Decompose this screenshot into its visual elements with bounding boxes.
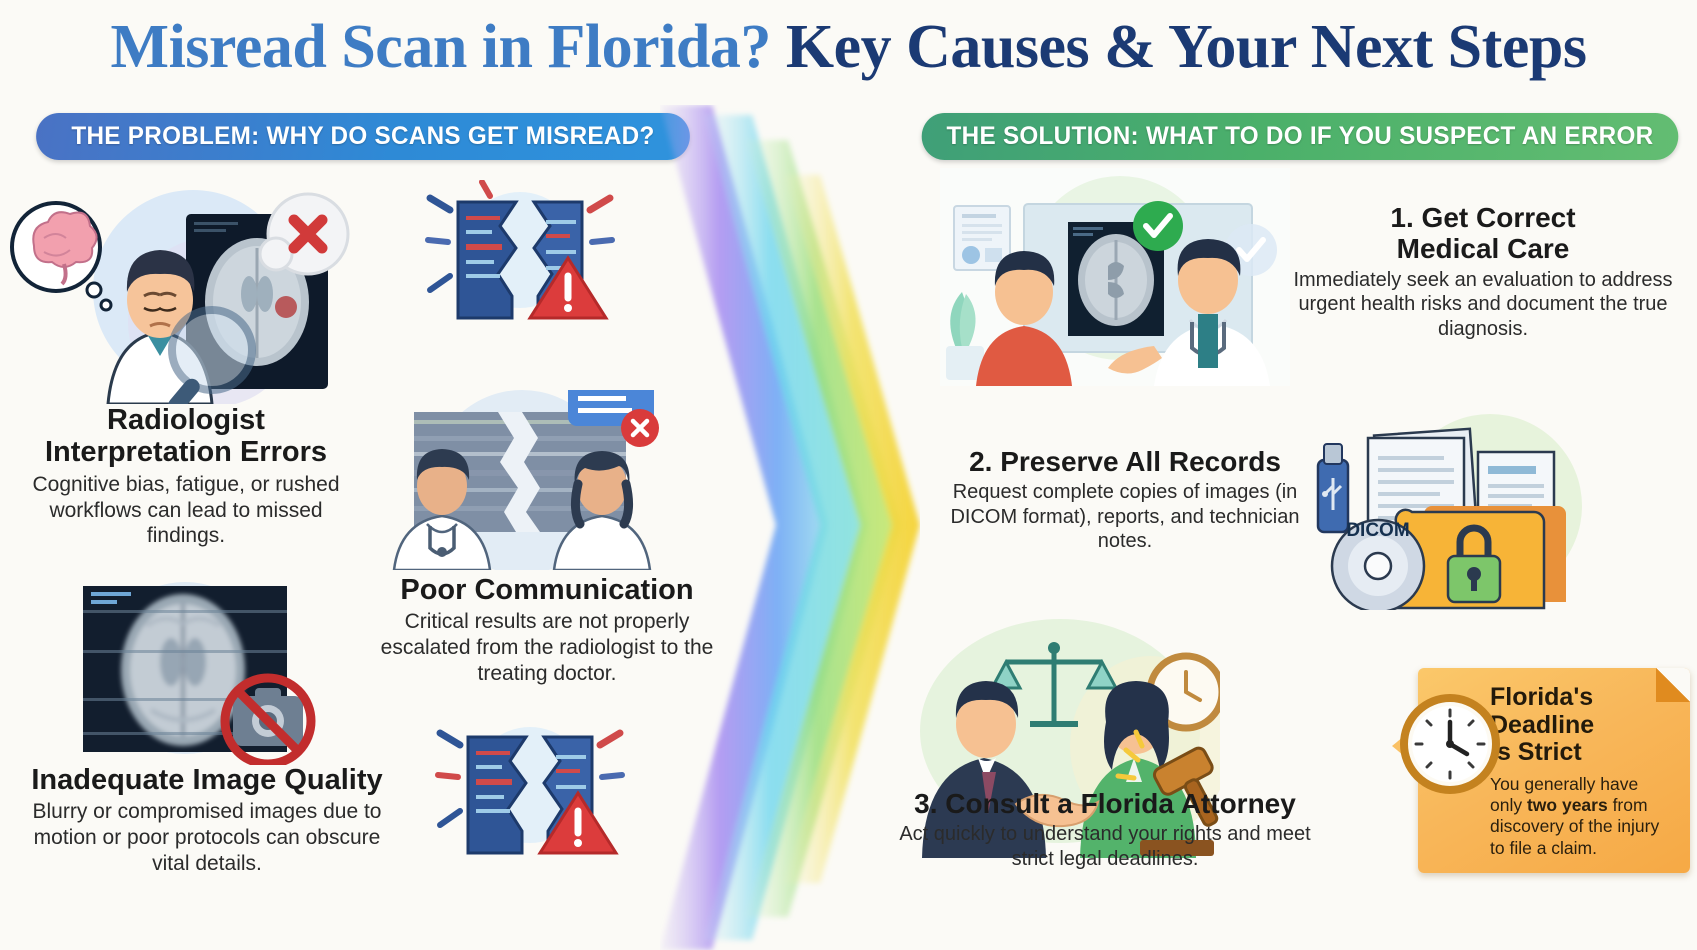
page-title-part1: Misread Scan in Florida?	[111, 13, 771, 81]
banner-problem: THE PROBLEM: WHY DO SCANS GET MISREAD?	[36, 113, 690, 160]
blurry-scan-illustration	[55, 580, 325, 765]
clock-icon	[1398, 692, 1502, 796]
doctors-communication-breakdown-illustration	[372, 390, 672, 570]
banner-solution-label: THE SOLUTION: WHAT TO DO IF YOU SUSPECT …	[947, 122, 1654, 151]
card-step2-body: Request complete copies of images (in DI…	[940, 480, 1310, 553]
deadline-title-line3: is Strict	[1490, 739, 1674, 767]
card-step2-heading: 2. Preserve All Records	[940, 446, 1310, 477]
card-imagequality-heading: Inadequate Image Quality	[22, 764, 392, 796]
deadline-body-bold: two years	[1527, 795, 1608, 815]
card-imagequality-body: Blurry or compromised images due to moti…	[22, 799, 392, 876]
doctor-patient-consultation-illustration	[940, 168, 1290, 386]
tired-radiologist-illustration	[8, 172, 358, 404]
card-step1-heading-line2: Medical Care	[1288, 233, 1678, 264]
card-step-get-correct-medical-care: 1. Get Correct Medical Care Immediately …	[1288, 202, 1678, 341]
card-step-consult-florida-attorney: 3. Consult a Florida Attorney Act quickl…	[890, 788, 1320, 871]
card-step-preserve-all-records: 2. Preserve All Records Request complete…	[940, 446, 1310, 554]
card-step3-body: Act quickly to understand your rights an…	[890, 822, 1320, 871]
broken-report-warning-icon	[420, 180, 620, 320]
dicom-disc-label: DICOM	[1346, 520, 1409, 541]
deadline-body: You generally have only two years from d…	[1490, 774, 1674, 859]
banner-problem-label: THE PROBLEM: WHY DO SCANS GET MISREAD?	[71, 122, 654, 151]
page-title-part2: Key Causes & Your Next Steps	[786, 13, 1587, 81]
records-folder-illustration: DICOM	[1300, 408, 1630, 610]
banner-solution: THE SOLUTION: WHAT TO DO IF YOU SUSPECT …	[922, 113, 1679, 160]
card-inadequate-image-quality: Inadequate Image Quality Blurry or compr…	[22, 764, 392, 876]
card-step1-body: Immediately seek an evaluation to addres…	[1288, 268, 1678, 341]
card-communication-heading: Poor Communication	[372, 574, 722, 606]
card-step1-heading-line1: 1. Get Correct	[1288, 202, 1678, 233]
card-radiologist-body: Cognitive bias, fatigue, or rushed workf…	[25, 472, 347, 549]
chevron-right-stack-icon	[660, 105, 920, 950]
deadline-title-line1: Florida's	[1490, 684, 1674, 712]
deadline-title: Florida's Deadline is Strict	[1490, 684, 1674, 767]
broken-report-warning-icon-2	[430, 715, 630, 855]
card-step3-heading: 3. Consult a Florida Attorney	[890, 788, 1320, 819]
folded-corner	[1656, 668, 1690, 702]
card-radiologist-heading: Radiologist Interpretation Errors	[25, 404, 347, 469]
card-communication-body: Critical results are not properly escala…	[372, 609, 722, 686]
card-step1-heading: 1. Get Correct Medical Care	[1288, 202, 1678, 265]
page-title: Misread Scan in Florida? Key Causes & Yo…	[0, 12, 1697, 83]
card-radiologist-errors: Radiologist Interpretation Errors Cognit…	[25, 404, 347, 549]
card-poor-communication: Poor Communication Critical results are …	[372, 574, 722, 686]
deadline-title-line2: Deadline	[1490, 712, 1674, 740]
